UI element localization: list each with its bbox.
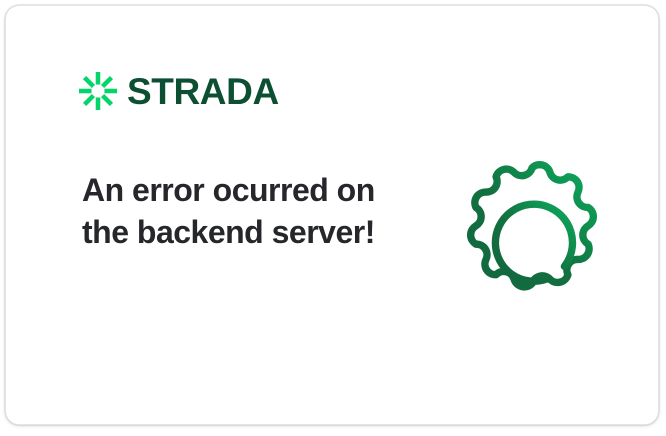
error-message: An error ocurred on the backend server! (82, 169, 382, 253)
gear-cog-icon (450, 142, 614, 312)
brand-lockup: STRADA (79, 72, 279, 110)
strada-asterisk-icon (79, 72, 117, 110)
brand-wordmark: STRADA (127, 73, 279, 110)
error-card: STRADA An error ocurred on the backend s… (5, 5, 659, 425)
